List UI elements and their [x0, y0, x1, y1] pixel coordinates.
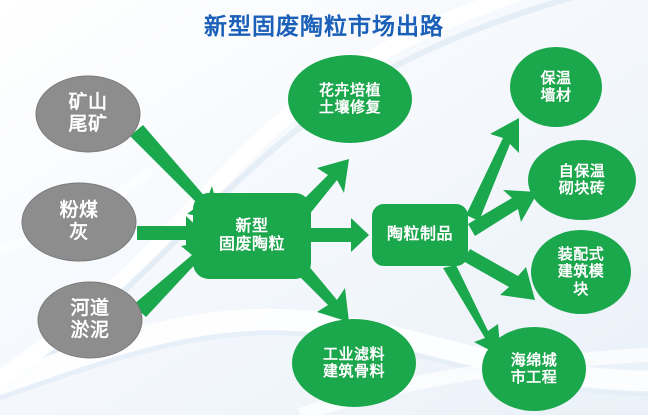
page-title: 新型固废陶粒市场出路 [0, 7, 648, 41]
node-flower-soil[interactable] [288, 55, 412, 143]
arrow-group [130, 118, 538, 356]
arrow-core-to-product [311, 218, 369, 252]
node-mine-tailings[interactable] [36, 76, 140, 152]
source-nodes [22, 76, 142, 358]
node-prefab-module[interactable] [531, 230, 631, 314]
arrow-product-to-sponge [443, 265, 501, 356]
node-industrial-filter[interactable] [292, 319, 416, 407]
node-insulation-wall[interactable] [510, 47, 602, 127]
node-fly-ash[interactable] [22, 183, 136, 261]
diagram-canvas: 新型固废陶粒市场出路 矿山 尾矿 粉煤 灰 河道 淤泥 新型 固废陶粒 陶粒制品… [0, 0, 648, 415]
node-river-sludge[interactable] [38, 282, 142, 358]
arrow-product-to-module [463, 249, 535, 300]
flow-diagram [0, 0, 648, 415]
node-ceramsite-products[interactable] [372, 204, 468, 266]
node-sponge-city[interactable] [482, 327, 586, 411]
node-new-ceramsite[interactable] [193, 193, 311, 279]
node-self-insulating-brick[interactable] [528, 140, 636, 220]
